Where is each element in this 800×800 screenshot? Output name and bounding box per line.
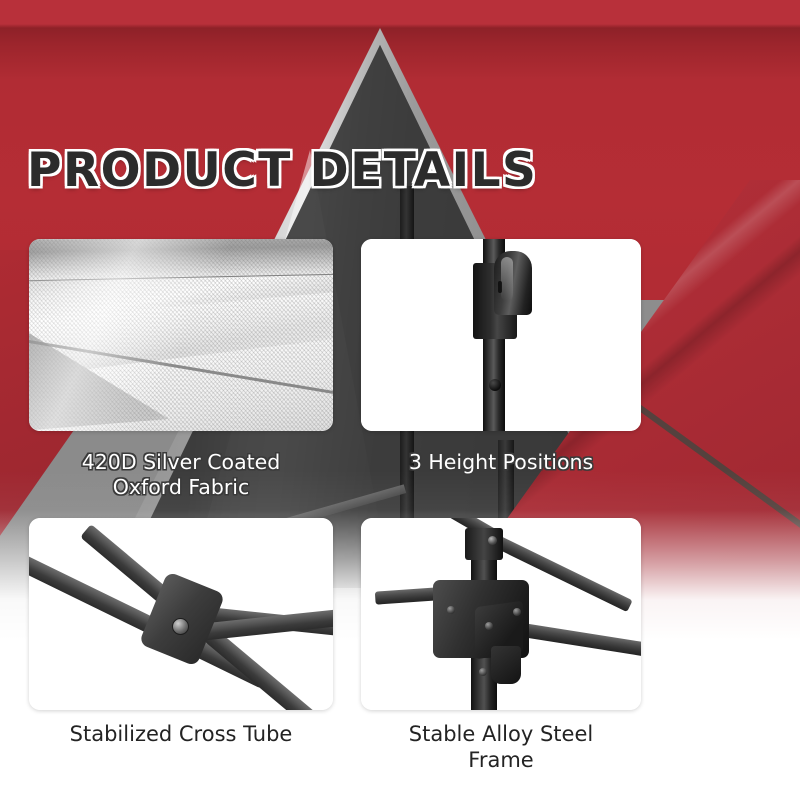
hub-screw-center xyxy=(485,622,493,630)
feature-caption-height: 3 Height Positions xyxy=(361,450,641,475)
hub-screw-left xyxy=(447,606,455,614)
post-screw-lower xyxy=(479,668,487,676)
height-adjust-photo xyxy=(361,239,641,431)
fabric-photo xyxy=(29,239,333,431)
product-details-infographic: PRODUCT DETAILS 420D Silver Coated Oxfor… xyxy=(0,0,800,800)
fabric-silver-sheen xyxy=(29,239,333,431)
hub-slider-tab xyxy=(491,646,521,684)
feature-caption-cross-tube: Stabilized Cross Tube xyxy=(29,722,333,748)
feature-card-cross-tube[interactable] xyxy=(29,518,333,710)
feature-caption-frame: Stable Alloy Steel Frame xyxy=(361,722,641,773)
cross-tube-rivet xyxy=(172,618,189,635)
leg-pin xyxy=(489,379,501,391)
clamp-highlight xyxy=(501,257,513,301)
feature-caption-fabric: 420D Silver Coated Oxford Fabric xyxy=(29,450,333,500)
height-adjust-hole xyxy=(498,281,502,293)
hub-screw-right xyxy=(513,608,521,616)
feature-card-frame[interactable] xyxy=(361,518,641,710)
feature-card-height[interactable] xyxy=(361,239,641,431)
post-cap-bracket xyxy=(465,528,503,560)
post-cap-screw xyxy=(488,536,497,545)
page-title: PRODUCT DETAILS xyxy=(27,143,537,198)
feature-card-fabric[interactable] xyxy=(29,239,333,431)
frame-hub-photo xyxy=(361,518,641,710)
cross-tube-photo xyxy=(29,518,333,710)
